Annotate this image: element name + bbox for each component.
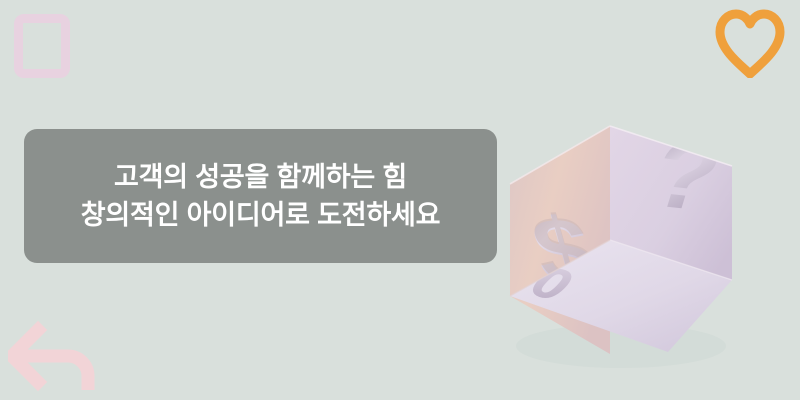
heart-outline-icon bbox=[712, 8, 788, 78]
rounded-square-outline bbox=[14, 14, 70, 78]
promo-banner: 고객의 성공을 함께하는 힘 창의적인 아이디어로 도전하세요 bbox=[0, 0, 800, 400]
headline-line-2: 창의적인 아이디어로 도전하세요 bbox=[81, 196, 441, 234]
headline-panel: 고객의 성공을 함께하는 힘 창의적인 아이디어로 도전하세요 bbox=[24, 129, 497, 263]
headline-line-1: 고객의 성공을 함께하는 힘 bbox=[114, 158, 407, 196]
return-arrow-icon bbox=[8, 316, 98, 394]
3d-cube-illustration: $ $ ? % bbox=[496, 96, 796, 368]
